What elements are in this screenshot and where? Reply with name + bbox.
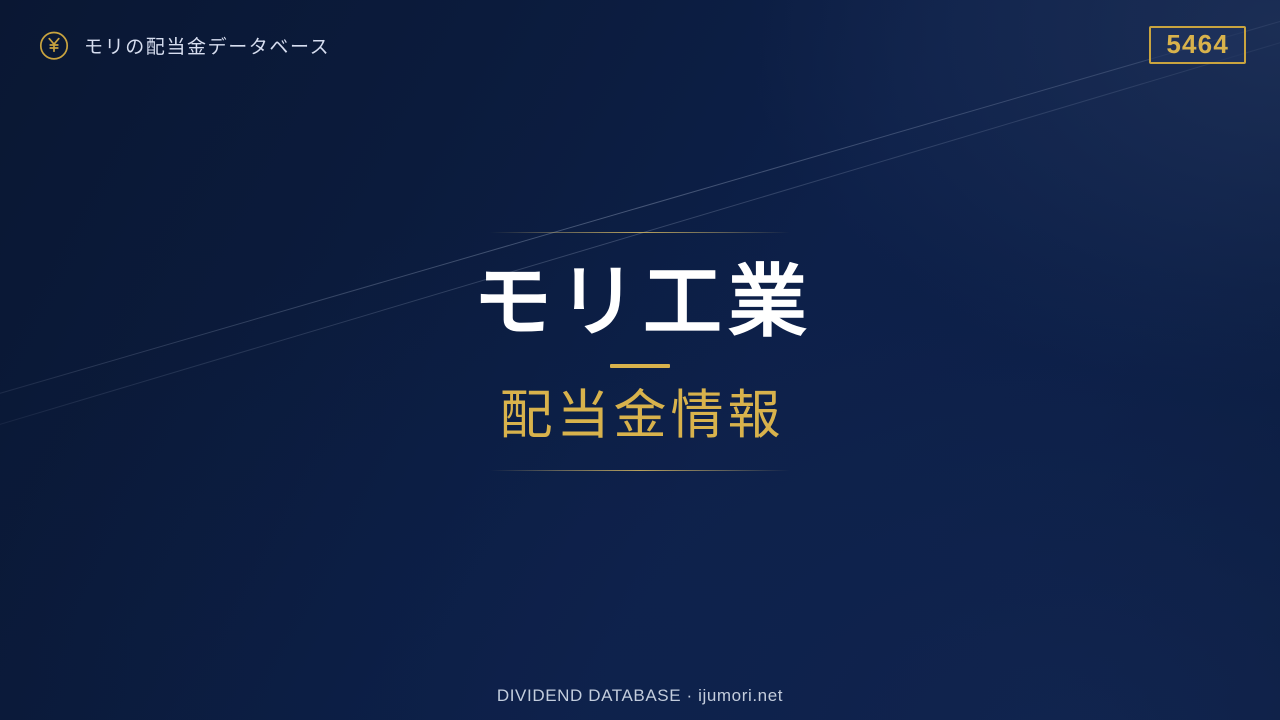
stock-code-badge: 5464 bbox=[1149, 26, 1246, 64]
title-block: モリ工業 配当金情報 bbox=[0, 232, 1280, 471]
page-header: モリの配当金データベース 5464 bbox=[0, 0, 1280, 90]
brand-title: モリの配当金データベース bbox=[84, 32, 330, 59]
divider-top bbox=[490, 232, 790, 233]
yen-circle-icon bbox=[38, 29, 70, 61]
company-name: モリ工業 bbox=[467, 261, 813, 342]
brand[interactable]: モリの配当金データベース bbox=[38, 29, 330, 61]
footer-caption: DIVIDEND DATABASE · ijumori.net bbox=[0, 686, 1280, 706]
divider-bottom bbox=[490, 470, 790, 471]
title-slide: モリの配当金データベース 5464 モリ工業 配当金情報 DIVIDEND DA… bbox=[0, 0, 1280, 720]
gold-accent-bar bbox=[610, 364, 670, 368]
page-subtitle: 配当金情報 bbox=[496, 388, 785, 444]
